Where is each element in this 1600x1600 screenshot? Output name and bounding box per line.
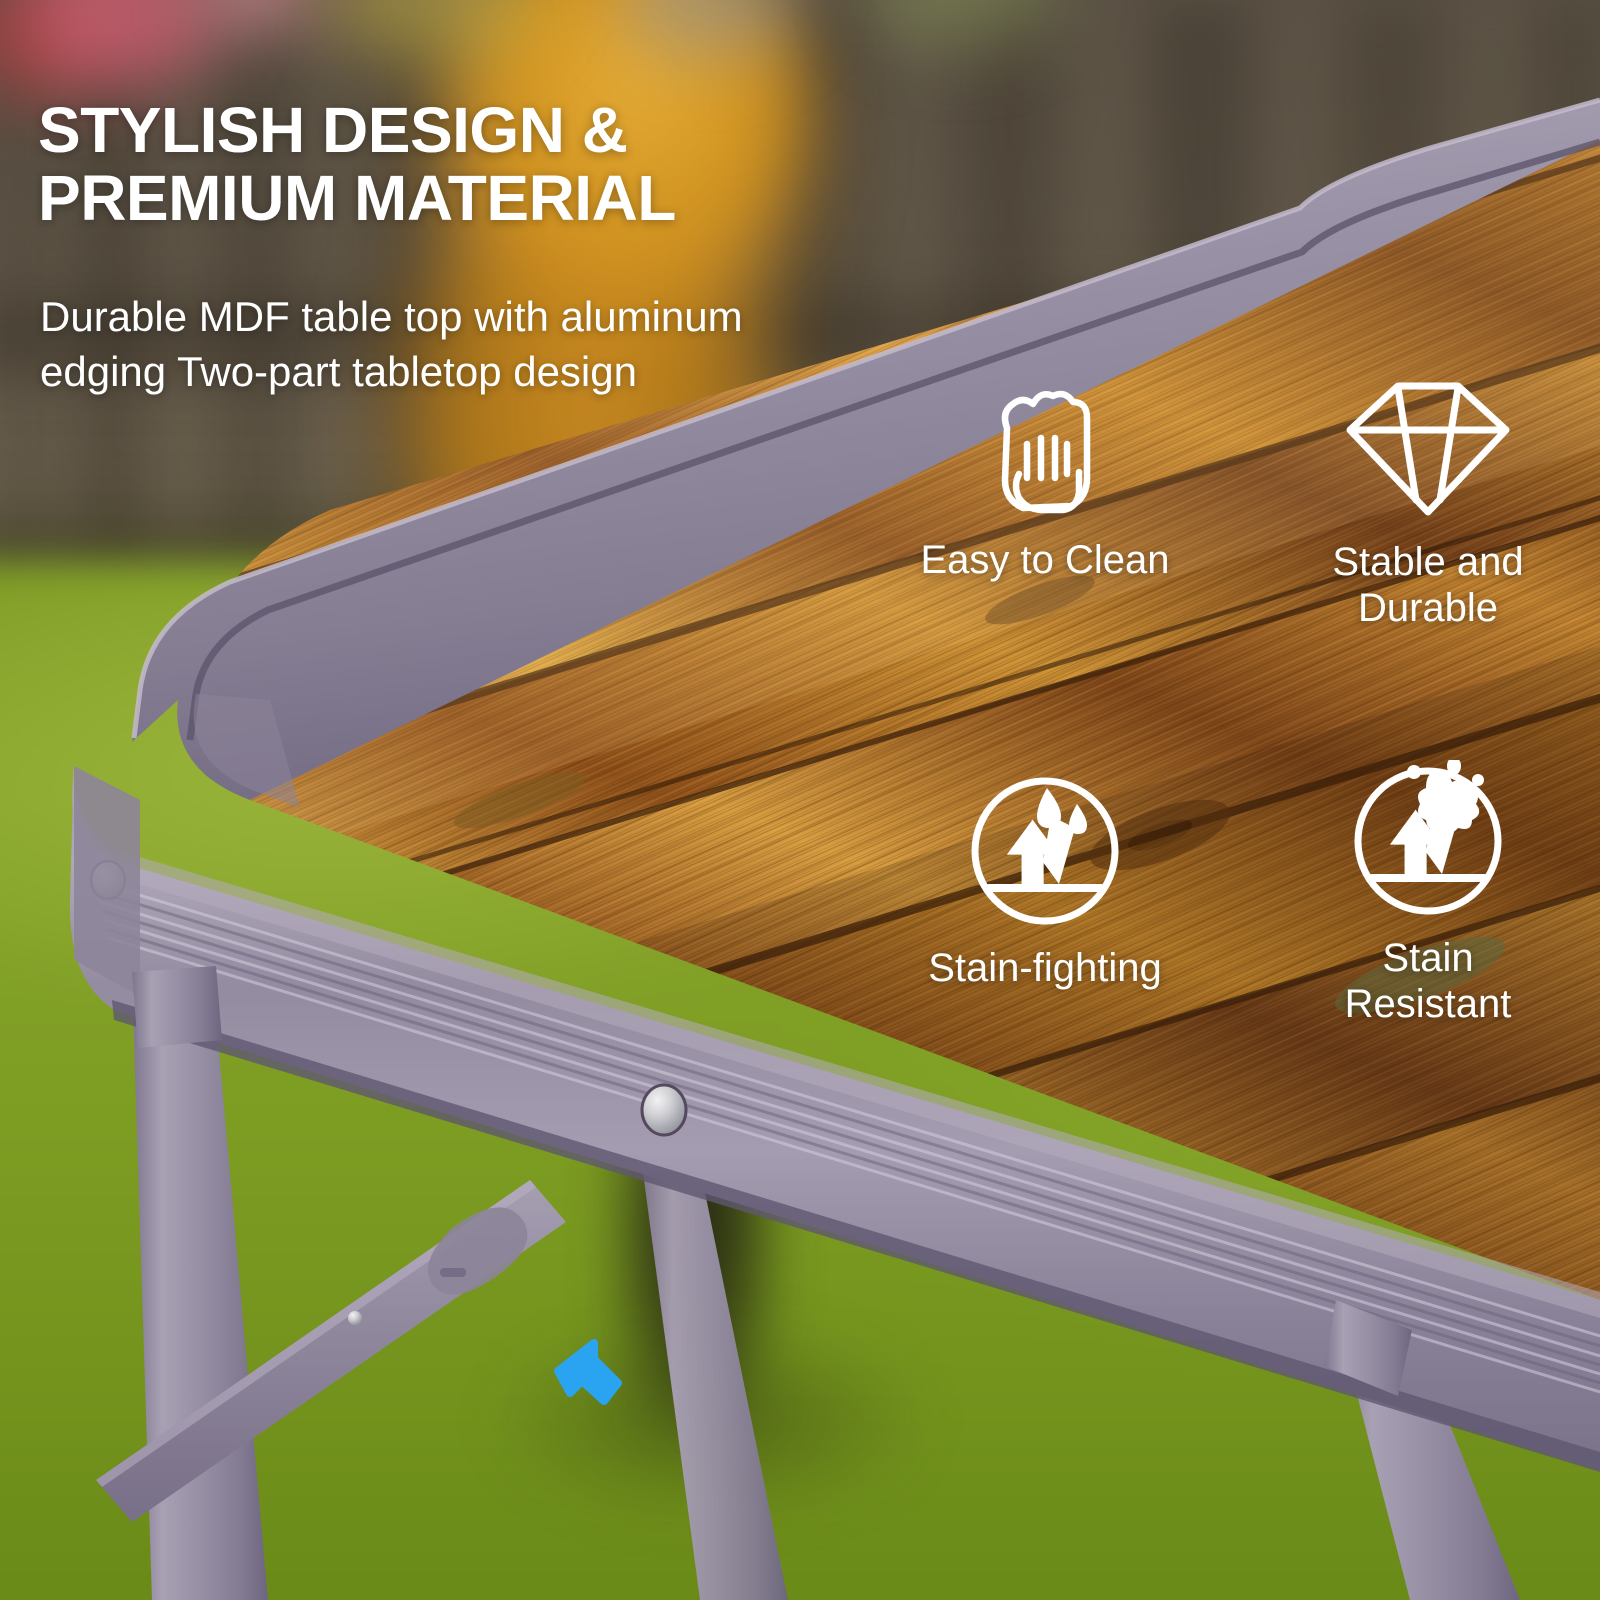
mouse-cursor-arrow[interactable] — [548, 1335, 636, 1419]
subtitle-line-1: Durable MDF table top with aluminum — [40, 290, 900, 345]
feature-stain-resistant: Stain Resistant — [1268, 760, 1588, 1027]
diamond-icon — [1342, 372, 1514, 522]
feature-label: Stain Resistant — [1268, 936, 1588, 1027]
feature-label: Stable and Durable — [1268, 540, 1588, 631]
feature-stable-and-durable: Stable and Durable — [1268, 372, 1588, 631]
page-title: STYLISH DESIGN & PREMIUM MATERIAL — [38, 96, 1038, 233]
feature-easy-to-clean: Easy to Clean — [885, 382, 1205, 584]
feature-label: Easy to Clean — [885, 538, 1205, 584]
subtitle-line-2: edging Two-part tabletop design — [40, 345, 900, 400]
side-apron-rail — [74, 766, 140, 996]
feature-stain-fighting: Stain-fighting — [885, 770, 1205, 992]
headline-line-1: STYLISH DESIGN & — [38, 96, 1038, 164]
stain-resistant-icon — [1348, 760, 1508, 922]
subtitle: Durable MDF table top with aluminum edgi… — [40, 290, 900, 399]
feature-label: Stain-fighting — [885, 946, 1205, 992]
water-repellent-icon — [965, 770, 1125, 932]
hand-wiping-icon — [979, 382, 1111, 522]
product-feature-image: STYLISH DESIGN & PREMIUM MATERIAL Durabl… — [0, 0, 1600, 1600]
headline-line-2: PREMIUM MATERIAL — [38, 164, 1038, 232]
